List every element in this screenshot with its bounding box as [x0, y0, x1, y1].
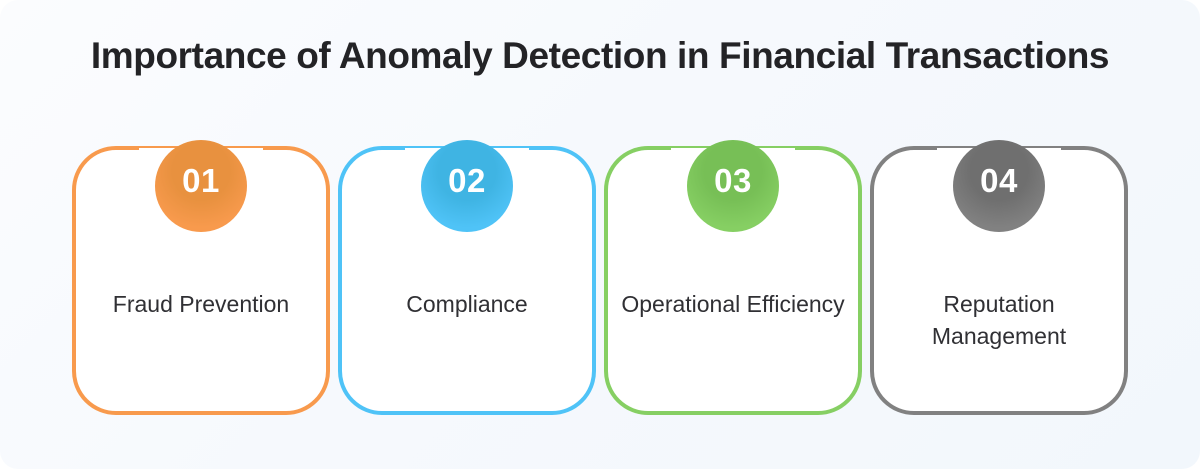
- card-number: 04: [980, 164, 1018, 197]
- card-fraud-prevention[interactable]: 01 Fraud Prevention: [72, 140, 330, 415]
- card-number-badge: 04: [953, 140, 1045, 232]
- card-row: 01 Fraud Prevention 02 Compliance 03 Ope…: [0, 140, 1200, 420]
- card-number-badge: 03: [687, 140, 779, 232]
- card-number: 02: [448, 164, 486, 197]
- infographic-canvas: Importance of Anomaly Detection in Finan…: [0, 0, 1200, 469]
- card-number-badge: 01: [155, 140, 247, 232]
- card-label: Operational Efficiency: [618, 288, 848, 320]
- card-number: 03: [714, 164, 752, 197]
- card-compliance[interactable]: 02 Compliance: [338, 140, 596, 415]
- card-label: Reputation Management: [884, 288, 1114, 352]
- card-operational-efficiency[interactable]: 03 Operational Efficiency: [604, 140, 862, 415]
- card-reputation-management[interactable]: 04 Reputation Management: [870, 140, 1128, 415]
- card-label: Compliance: [352, 288, 582, 320]
- page-title: Importance of Anomaly Detection in Finan…: [0, 34, 1200, 78]
- card-number: 01: [182, 164, 220, 197]
- card-label: Fraud Prevention: [86, 288, 316, 320]
- card-number-badge: 02: [421, 140, 513, 232]
